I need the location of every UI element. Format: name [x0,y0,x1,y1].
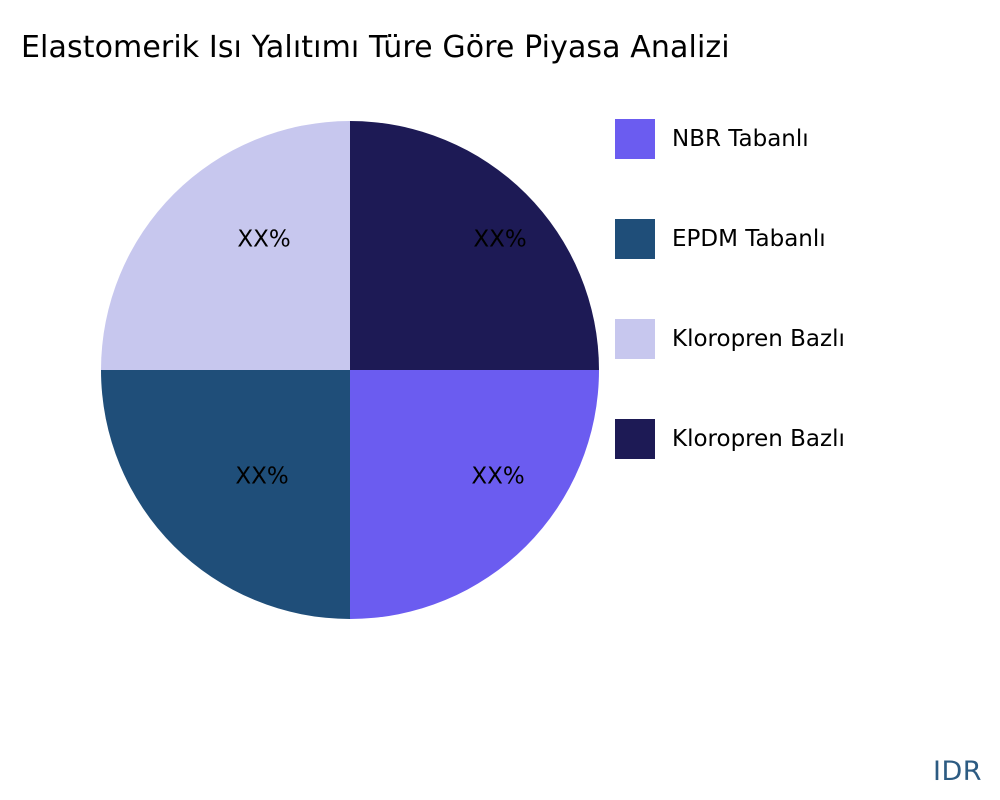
pie-chart-figure: Elastomerik Isı Yalıtımı Türe Göre Piyas… [0,0,1000,800]
legend-item-kloropren-bazli-light[interactable]: Kloropren Bazlı [615,319,955,419]
pie-slice-label-top-left: XX% [237,229,290,252]
pie-slice-label-top-right: XX% [473,229,526,252]
pie-slice-top-left[interactable] [101,121,350,370]
pie-slice-bottom-right[interactable] [350,370,599,619]
pie-slice-label-bottom-left: XX% [235,466,288,489]
pie-chart-plot-area: XX% XX% XX% XX% [101,121,599,619]
chart-legend: NBR Tabanlı EPDM Tabanlı Kloropren Bazlı… [615,119,955,519]
legend-item-kloropren-bazli-dark[interactable]: Kloropren Bazlı [615,419,955,519]
legend-swatch-icon [615,119,655,159]
legend-item-label: Kloropren Bazlı [672,319,845,359]
legend-swatch-icon [615,219,655,259]
legend-item-nbr-tabanli[interactable]: NBR Tabanlı [615,119,955,219]
chart-title: Elastomerik Isı Yalıtımı Türe Göre Piyas… [21,28,730,68]
legend-swatch-icon [615,419,655,459]
legend-swatch-icon [615,319,655,359]
legend-item-label: EPDM Tabanlı [672,219,826,259]
pie-slice-label-bottom-right: XX% [471,466,524,489]
legend-item-label: NBR Tabanlı [672,119,809,159]
idr-watermark: IDR [933,756,982,788]
legend-item-epdm-tabanli[interactable]: EPDM Tabanlı [615,219,955,319]
pie-svg [101,121,599,619]
pie-slice-bottom-left[interactable] [101,370,350,619]
legend-item-label: Kloropren Bazlı [672,419,845,459]
